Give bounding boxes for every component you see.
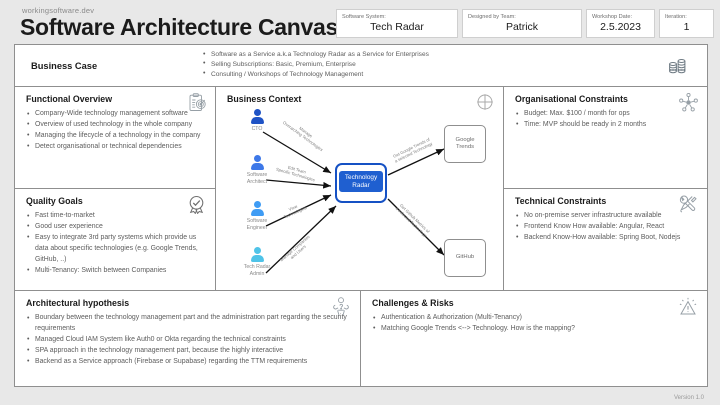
- list-item: Managed Cloud IAM System like Auth0 or O…: [26, 335, 351, 346]
- list-item: Budget: Max. $100 / month for ops: [515, 109, 698, 120]
- list-item: Fast time-to-market: [26, 211, 206, 222]
- business-context-diagram: CTO Software Architect Software Engineer: [216, 87, 504, 291]
- section-organisational-constraints: Organisational Constraints Budget: Max. …: [504, 87, 707, 189]
- canvas-bottom-row: Architectural hypothesis Boundary betwee…: [15, 291, 707, 386]
- page-title: Software Architecture Canvas: [20, 14, 338, 41]
- list-item: Overview of used technology in the whole…: [26, 120, 206, 131]
- system-label-line1: Technology: [345, 174, 377, 181]
- list-item: Company-Wide technology management softw…: [26, 109, 206, 120]
- meta-label: Designed by Team:: [468, 14, 516, 20]
- challenges-risks-list: Authentication & Authorization (Multi-Te…: [372, 313, 698, 335]
- section-business-case: Business Case Software as a Service a.k.…: [15, 45, 707, 87]
- actor-label-2: Architect: [247, 179, 267, 185]
- section-architectural-hypothesis: Architectural hypothesis Boundary betwee…: [15, 291, 361, 386]
- left-column: Functional Overview Company-Wide technol…: [15, 87, 216, 290]
- section-technical-constraints: Technical Constraints No on-premise serv…: [504, 189, 707, 290]
- organisational-constraints-list: Budget: Max. $100 / month for ops Time: …: [515, 109, 698, 131]
- functional-overview-list: Company-Wide technology management softw…: [26, 109, 206, 153]
- section-title: Functional Overview: [26, 94, 206, 104]
- actor-label: CTO: [252, 126, 263, 132]
- list-item: Backend Know-How available: Spring Boot,…: [515, 233, 698, 244]
- system-technology-radar-label: Technology Radar: [339, 171, 383, 192]
- section-functional-overview: Functional Overview Company-Wide technol…: [15, 87, 215, 189]
- section-challenges-risks: Challenges & Risks Authentication & Auth…: [361, 291, 707, 386]
- section-business-context: Business Context: [216, 87, 504, 290]
- actor-label-2: Admin: [250, 271, 265, 277]
- section-title: Quality Goals: [26, 196, 206, 206]
- list-item: Consulting / Workshops of Technology Man…: [202, 70, 647, 80]
- actor-label-2: Engineer: [247, 225, 268, 231]
- external-system-github: GitHub: [444, 239, 486, 277]
- section-title: Architectural hypothesis: [26, 298, 351, 308]
- external-system-google-trends: Google Trends: [444, 125, 486, 163]
- meta-field-iteration[interactable]: Iteration: 1: [659, 9, 714, 38]
- meta-label: Workshop Date:: [592, 14, 632, 20]
- actor-label: Tech Radar: [244, 264, 271, 270]
- list-item: No on-premise server infrastructure avai…: [515, 211, 698, 222]
- actor-software-architect: Software Architect: [234, 155, 280, 185]
- section-title: Technical Constraints: [515, 196, 698, 206]
- list-item: Easy to integrate 3rd party systems whic…: [26, 233, 206, 266]
- meta-label: Software System:: [342, 14, 386, 20]
- business-case-title: Business Case: [15, 45, 200, 86]
- actor-tech-radar-admin: Tech Radar Admin: [234, 247, 280, 277]
- section-title: Challenges & Risks: [372, 298, 698, 308]
- list-item: Frontend Know How available: Angular, Re…: [515, 222, 698, 233]
- list-item: Good user experience: [26, 222, 206, 233]
- list-item: SPA approach in the technology managemen…: [26, 346, 351, 357]
- meta-field-designed-by-team[interactable]: Designed by Team: Patrick: [462, 9, 582, 38]
- architectural-hypothesis-list: Boundary between the technology manageme…: [26, 313, 351, 368]
- meta-label: Iteration:: [665, 14, 687, 20]
- quality-goals-list: Fast time-to-market Good user experience…: [26, 211, 206, 276]
- section-quality-goals: Quality Goals Fast time-to-market Good u…: [15, 189, 215, 290]
- money-stacks-icon: [647, 45, 707, 86]
- actor-label: Software: [247, 172, 267, 178]
- list-item: Detect organisational or technical depen…: [26, 142, 206, 153]
- list-item: Time: MVP should be ready in 2 months: [515, 120, 698, 131]
- right-column: Organisational Constraints Budget: Max. …: [504, 87, 707, 290]
- actor-label: Software: [247, 218, 267, 224]
- external-system-label: GitHub: [456, 254, 474, 261]
- list-item: Selling Subscriptions: Basic, Premium, E…: [202, 60, 647, 70]
- business-case-list: Software as a Service a.k.a Technology R…: [200, 45, 647, 86]
- list-item: Backend as a Service approach (Firebase …: [26, 357, 351, 368]
- external-system-label: Google: [456, 137, 475, 143]
- list-item: Multi-Tenancy: Switch between Companies: [26, 266, 206, 277]
- section-title: Organisational Constraints: [515, 94, 698, 104]
- system-label-line2: Radar: [352, 182, 369, 189]
- list-item: Boundary between the technology manageme…: [26, 313, 351, 335]
- canvas-page: workingsoftware.dev Software Architectur…: [0, 0, 720, 405]
- actor-cto: CTO: [234, 109, 280, 133]
- canvas-middle-row: Functional Overview Company-Wide technol…: [15, 87, 707, 291]
- architecture-canvas: Business Case Software as a Service a.k.…: [14, 44, 708, 387]
- header-meta-fields: Software System: Tech Radar Designed by …: [336, 9, 714, 38]
- list-item: Matching Google Trends <--> Technology. …: [372, 324, 698, 335]
- meta-field-workshop-date[interactable]: Workshop Date: 2.5.2023: [586, 9, 655, 38]
- actor-software-engineer: Software Engineer: [234, 201, 280, 231]
- external-system-label-2: Trends: [456, 144, 474, 150]
- list-item: Authentication & Authorization (Multi-Te…: [372, 313, 698, 324]
- technical-constraints-list: No on-premise server infrastructure avai…: [515, 211, 698, 244]
- list-item: Managing the lifecycle of a technology i…: [26, 131, 206, 142]
- meta-field-software-system[interactable]: Software System: Tech Radar: [336, 9, 458, 38]
- list-item: Software as a Service a.k.a Technology R…: [202, 50, 647, 60]
- version-label: Version 1.0: [674, 395, 704, 401]
